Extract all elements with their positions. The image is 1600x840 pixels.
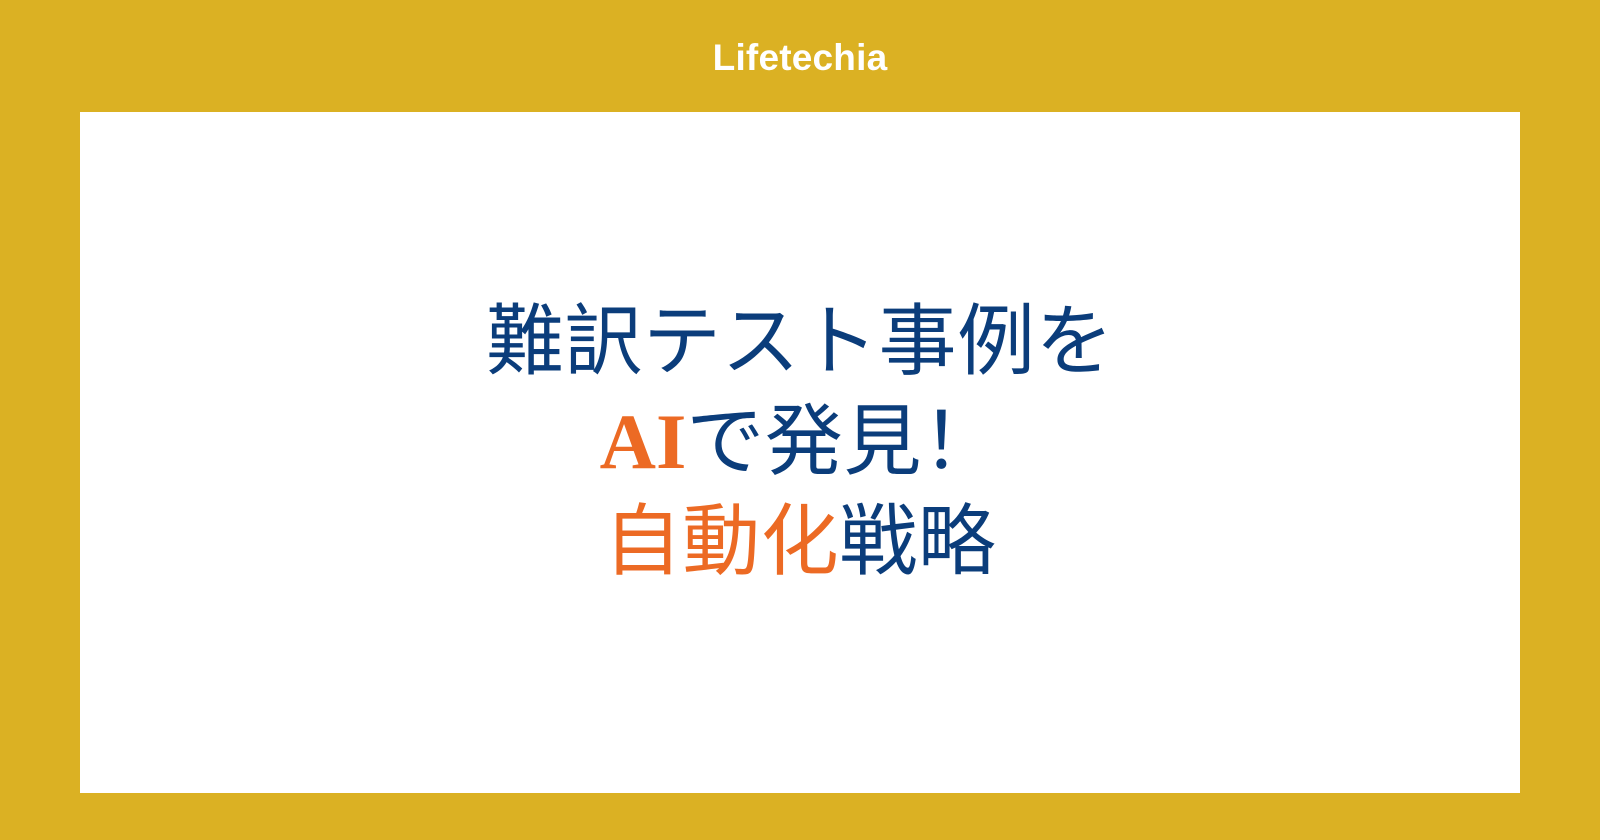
headline-segment-automation-accent: 自動化 bbox=[604, 498, 840, 585]
title-slide: Lifetechia 難訳テスト事例を AIで発見！ 自動化戦略 bbox=[0, 0, 1600, 840]
headline-segment-ai-accent: AI bbox=[600, 398, 687, 485]
content-card: 難訳テスト事例を AIで発見！ 自動化戦略 bbox=[80, 112, 1520, 793]
brand-wordmark: Lifetechia bbox=[713, 39, 888, 76]
headline-segment-navy: 戦略 bbox=[839, 498, 996, 585]
headline-line-2: AIで発見！ bbox=[80, 392, 1520, 492]
headline-segment-navy: で発見！ bbox=[686, 398, 1000, 485]
headline-line-3: 自動化戦略 bbox=[80, 492, 1520, 592]
headline: 難訳テスト事例を AIで発見！ 自動化戦略 bbox=[80, 292, 1520, 591]
brand-band: Lifetechia bbox=[0, 0, 1600, 112]
headline-line-1: 難訳テスト事例を bbox=[80, 292, 1520, 392]
headline-segment-navy: 難訳テスト事例を bbox=[486, 298, 1114, 385]
